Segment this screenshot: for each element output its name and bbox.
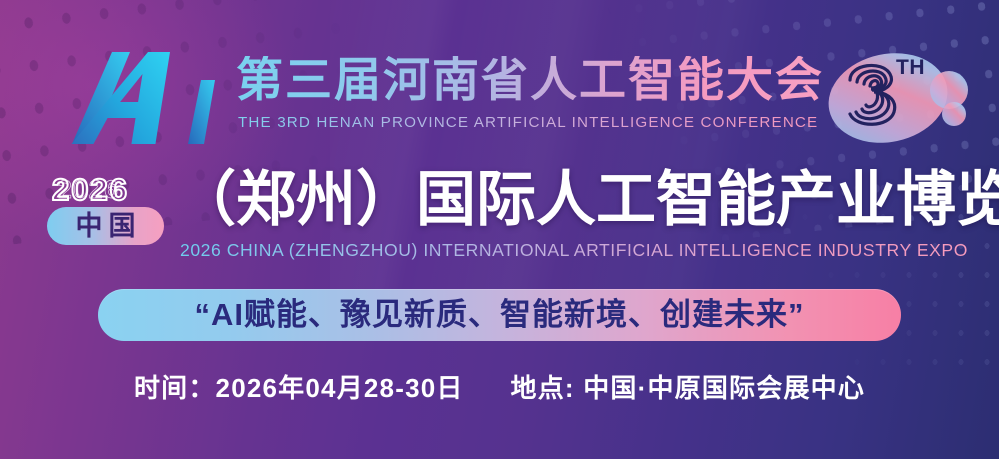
expo-title-en: 2026 CHINA (ZHENGZHOU) INTERNATIONAL ART… [180,240,968,261]
event-date: 时间：2026年04月28-30日 [134,368,464,405]
expo-title-cn: （郑州）国际人工智能产业博览会 [176,168,999,233]
conference-title-cn: 第三届河南省人工智能大会 [236,56,824,103]
event-details-row: 时间：2026年04月28-30日 地点: 中国·中原国际会展中心 [0,368,999,405]
country-pill: 中国 [47,207,164,245]
conference-title-en: THE 3RD HENAN PROVINCE ARTIFICIAL INTELL… [238,114,818,131]
conference-header-row: 第三届河南省人工智能大会 THE 3RD HENAN PROVINCE ARTI… [0,48,999,148]
edition-badge: TH [820,42,982,154]
conference-banner: 第三届河南省人工智能大会 THE 3RD HENAN PROVINCE ARTI… [0,0,999,459]
country-pill-label: 中国 [47,207,164,245]
ai-monogram-logo [68,52,218,150]
event-venue: 地点: 中国·中原国际会展中心 [511,368,866,405]
slogan-pill: “AI赋能、豫见新质、智能新境、创建未来” [98,289,901,341]
slogan-text: “AI赋能、豫见新质、智能新境、创建未来” [98,289,901,341]
edition-badge-suffix: TH [896,56,925,80]
year-text-inner: 2026 [58,176,120,205]
